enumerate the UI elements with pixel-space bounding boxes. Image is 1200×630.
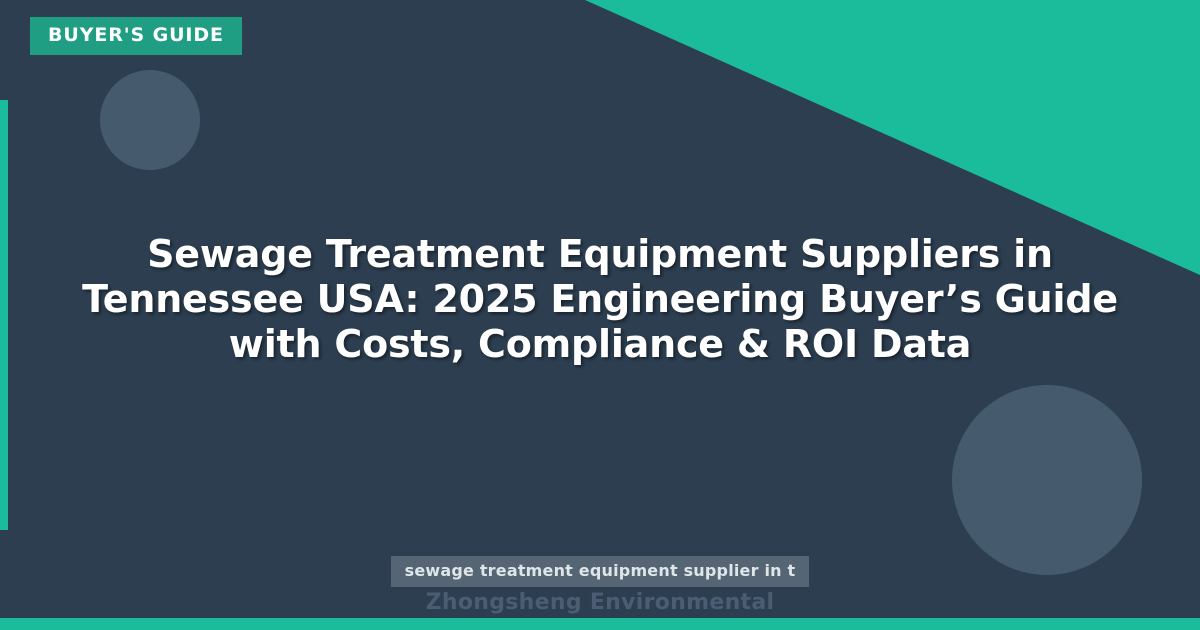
- headline-line-3: with Costs, Compliance & ROI Data: [60, 322, 1140, 367]
- teal-left-accent-bar: [0, 100, 8, 530]
- headline-line-2: Tennessee USA: 2025 Engineering Buyer’s …: [60, 277, 1140, 322]
- teal-bottom-accent-bar: [0, 618, 1200, 630]
- keyword-chip-container: sewage treatment equipment supplier in t: [0, 556, 1200, 587]
- buyers-guide-badge: BUYER'S GUIDE: [30, 17, 242, 55]
- page-title: Sewage Treatment Equipment Suppliers in …: [60, 232, 1140, 366]
- brand-container: Zhongsheng Environmental: [0, 590, 1200, 616]
- headline-line-1: Sewage Treatment Equipment Suppliers in: [60, 232, 1140, 277]
- social-share-card: BUYER'S GUIDE Sewage Treatment Equipment…: [0, 0, 1200, 630]
- decorative-circle-small: [100, 70, 200, 170]
- brand-name: Zhongsheng Environmental: [426, 590, 775, 616]
- decorative-circle-large: [952, 385, 1142, 575]
- keyword-chip: sewage treatment equipment supplier in t: [391, 556, 810, 587]
